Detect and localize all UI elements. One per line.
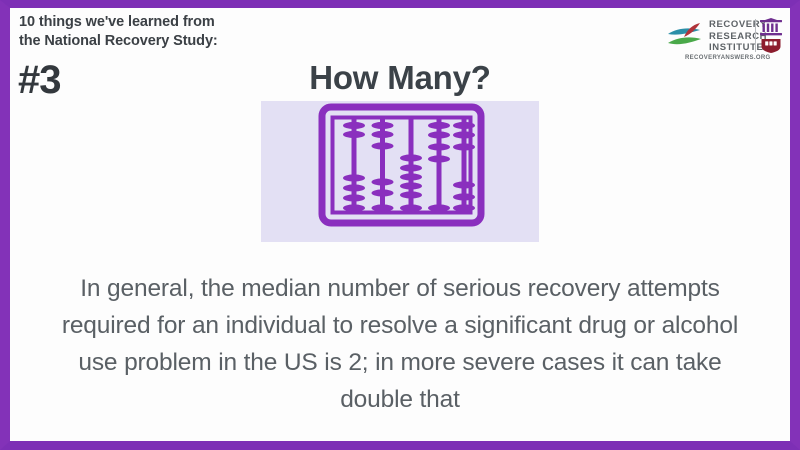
swoosh-icon (667, 21, 707, 51)
logo-url-text: RECOVERYANSWERS.ORG (685, 55, 771, 61)
kicker-line-2: the National Recovery Study: (19, 32, 319, 51)
slide-canvas: 10 things we've learned from the Nationa… (0, 0, 800, 450)
logo-divider (755, 19, 756, 52)
slide-kicker: 10 things we've learned from the Nationa… (19, 13, 319, 51)
page-title: How Many? (10, 59, 790, 97)
abacus-icon (318, 103, 485, 227)
slide-body-text: In general, the median number of serious… (50, 270, 750, 418)
icon-panel (261, 101, 539, 242)
kicker-line-1: 10 things we've learned from (19, 14, 215, 30)
recovery-research-institute-logo: RECOVERY RESEARCH INSTITUTE (667, 16, 785, 64)
institute-building-and-shield-icon (759, 18, 783, 53)
